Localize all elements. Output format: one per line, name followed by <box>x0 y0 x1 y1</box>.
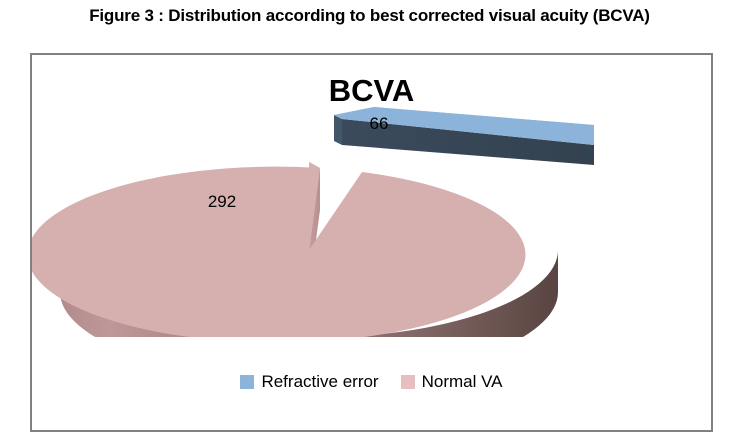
chart-frame: BCVA <box>30 53 713 432</box>
legend-swatch-icon-normal-va <box>401 375 415 389</box>
figure-caption: Figure 3 : Distribution according to bes… <box>0 6 739 26</box>
figure-page: Figure 3 : Distribution according to bes… <box>0 0 739 443</box>
legend-item-refractive-error[interactable]: Refractive error <box>240 372 378 392</box>
chart-title: BCVA <box>32 73 711 109</box>
chart-legend: Refractive error Normal VA <box>32 372 711 392</box>
pink-slice-value-label: 292 <box>208 192 236 211</box>
blue-slice-value-label: 66 <box>370 114 389 133</box>
legend-label-normal-va: Normal VA <box>422 372 503 392</box>
legend-label-refractive-error: Refractive error <box>261 372 378 392</box>
legend-swatch-icon-refractive-error <box>240 375 254 389</box>
pink-slice-top <box>32 162 525 337</box>
legend-item-normal-va[interactable]: Normal VA <box>401 372 503 392</box>
pie-chart-3d: 66 292 <box>32 107 711 337</box>
